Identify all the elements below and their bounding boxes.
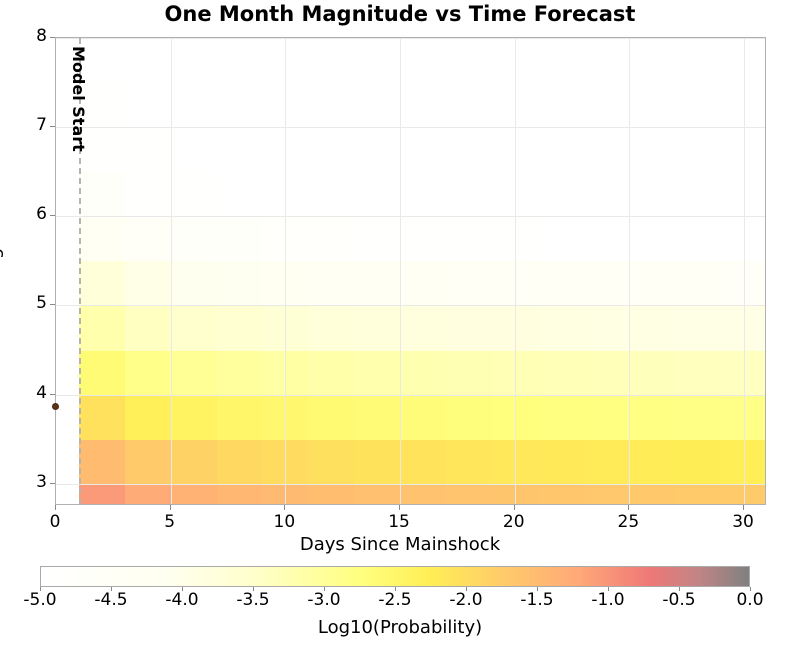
heatmap-cell	[400, 261, 446, 306]
y-axis-tick-mark	[50, 126, 55, 127]
y-axis-tick-mark	[50, 483, 55, 484]
heatmap-cell	[629, 305, 675, 350]
heatmap-cell	[492, 127, 538, 172]
heatmap-cell	[308, 83, 354, 128]
heatmap-cell	[217, 439, 263, 484]
heatmap-cell	[262, 216, 308, 261]
heatmap-cell	[584, 395, 630, 440]
model-start-label: Model Start	[69, 46, 88, 152]
heatmap-cell	[446, 261, 492, 306]
heatmap-cell	[217, 172, 263, 217]
heatmap-cell	[262, 261, 308, 306]
heatmap-cell	[217, 83, 263, 128]
heatmap-cell	[262, 350, 308, 395]
heatmap-cell	[446, 127, 492, 172]
heatmap-cell	[446, 216, 492, 261]
heatmap-cell	[354, 484, 400, 505]
colorbar-tick-label: -1.0	[573, 592, 643, 609]
heatmap-cell	[446, 439, 492, 484]
colorbar-tick-label: -1.5	[502, 592, 572, 609]
heatmap-cell	[538, 395, 584, 440]
heatmap-cell	[721, 305, 766, 350]
heatmap-cell	[400, 350, 446, 395]
heatmap-cell	[354, 350, 400, 395]
heatmap-cell	[79, 395, 125, 440]
heatmap-cell	[79, 350, 125, 395]
y-axis-tick-label: 4	[7, 385, 47, 402]
colorbar-tick-label: -3.5	[218, 592, 288, 609]
heatmap-cell	[262, 439, 308, 484]
heatmap-cell	[400, 305, 446, 350]
heatmap-cell	[538, 439, 584, 484]
heatmap-cell	[125, 261, 171, 306]
x-axis-tick-label: 5	[140, 514, 200, 531]
heatmap-cell	[492, 395, 538, 440]
x-axis-tick-label: 25	[598, 514, 658, 531]
y-axis-tick-label: 5	[7, 295, 47, 312]
heatmap-cell	[721, 172, 766, 217]
heatmap-cell	[675, 395, 721, 440]
heatmap-cell	[79, 305, 125, 350]
heatmap-cell	[629, 439, 675, 484]
colorbar-tick-label: -2.0	[431, 592, 501, 609]
heatmap-cell	[492, 350, 538, 395]
colorbar-tick-label: -3.0	[289, 592, 359, 609]
heatmap-cell	[584, 261, 630, 306]
heatmap-cell	[354, 38, 400, 83]
heatmap-cell	[446, 305, 492, 350]
y-axis-tick-mark	[50, 394, 55, 395]
heatmap-cell	[721, 83, 766, 128]
forecast-heatmap-figure: One Month Magnitude vs Time Forecast Mod…	[0, 0, 800, 650]
heatmap-cell	[79, 216, 125, 261]
x-axis-label: Days Since Mainshock	[0, 534, 800, 555]
heatmap-cell	[492, 38, 538, 83]
heatmap-cell	[721, 127, 766, 172]
plot-area: Model Start	[55, 37, 766, 505]
x-axis-tick-mark	[399, 505, 400, 510]
heatmap-cell	[721, 216, 766, 261]
heatmap-cell	[262, 127, 308, 172]
heatmap-cell	[492, 261, 538, 306]
heatmap-cell	[262, 395, 308, 440]
colorbar-tick-label: -4.5	[76, 592, 146, 609]
heatmap-cell	[584, 127, 630, 172]
heatmap-cell	[721, 261, 766, 306]
y-axis-tick-label: 7	[7, 117, 47, 134]
heatmap-cell	[262, 38, 308, 83]
x-axis-tick-mark	[170, 505, 171, 510]
heatmap-cell	[721, 395, 766, 440]
heatmap-cell	[584, 172, 630, 217]
heatmap-cell	[171, 216, 217, 261]
heatmap-cell	[308, 38, 354, 83]
heatmap-cell	[354, 216, 400, 261]
x-axis-tick-label: 10	[254, 514, 314, 531]
heatmap-cell	[354, 127, 400, 172]
heatmap-cell	[354, 83, 400, 128]
heatmap-cell	[446, 484, 492, 505]
heatmap-cell	[262, 484, 308, 505]
heatmap-cell	[584, 216, 630, 261]
heatmap-cell	[400, 172, 446, 217]
heatmap-cell	[125, 439, 171, 484]
heatmap-cell	[308, 350, 354, 395]
heatmap-cell	[354, 439, 400, 484]
heatmap-cell	[400, 38, 446, 83]
heatmap-cell	[446, 172, 492, 217]
x-axis-tick-label: 30	[713, 514, 773, 531]
heatmap-cell	[125, 38, 171, 83]
heatmap-cell	[125, 216, 171, 261]
heatmap-cell	[79, 172, 125, 217]
heatmap-cell	[125, 127, 171, 172]
heatmap-cell	[400, 439, 446, 484]
heatmap-cell	[125, 172, 171, 217]
colorbar-title: Log10(Probability)	[0, 617, 800, 638]
heatmap-cell	[584, 350, 630, 395]
x-axis-tick-mark	[628, 505, 629, 510]
heatmap-cell	[400, 395, 446, 440]
heatmap-cell	[125, 484, 171, 505]
heatmap-cell	[171, 305, 217, 350]
heatmap-cell	[629, 261, 675, 306]
heatmap-cell	[629, 127, 675, 172]
heatmap-cell	[217, 38, 263, 83]
heatmap-cell	[721, 38, 766, 83]
heatmap-cell	[125, 83, 171, 128]
heatmap-cell	[538, 484, 584, 505]
heatmap-cell	[308, 395, 354, 440]
heatmap-cell	[584, 439, 630, 484]
heatmap-cell	[171, 38, 217, 83]
x-axis-tick-label: 20	[484, 514, 544, 531]
heatmap-cell	[584, 484, 630, 505]
heatmap-cell	[492, 439, 538, 484]
heatmap-cell	[171, 83, 217, 128]
heatmap-cell	[446, 83, 492, 128]
heatmap-cell	[675, 83, 721, 128]
heatmap-cell	[125, 305, 171, 350]
heatmap-cell	[629, 395, 675, 440]
heatmap-cell	[538, 261, 584, 306]
colorbar-tick-label: -5.0	[5, 592, 75, 609]
heatmap-cell	[400, 484, 446, 505]
heatmap-cell	[262, 83, 308, 128]
colorbar	[40, 566, 750, 587]
heatmap-cell	[675, 261, 721, 306]
heatmap-cell	[354, 305, 400, 350]
heatmap-cell	[629, 38, 675, 83]
heatmap-cell	[492, 83, 538, 128]
heatmap-cell	[171, 484, 217, 505]
x-axis-tick-label: 15	[369, 514, 429, 531]
colorbar-tick-label: 0.0	[715, 592, 785, 609]
heatmap-cell	[538, 350, 584, 395]
heatmap-cell	[308, 216, 354, 261]
heatmap-cell	[538, 216, 584, 261]
heatmap-cell	[584, 305, 630, 350]
heatmap-cell	[171, 439, 217, 484]
heatmap-cell	[217, 305, 263, 350]
heatmap-cell	[308, 261, 354, 306]
heatmap-cell	[446, 350, 492, 395]
heatmap-cell	[629, 350, 675, 395]
mainshock-dot	[52, 403, 59, 410]
heatmap-cell	[675, 216, 721, 261]
heatmap-cell	[354, 172, 400, 217]
heatmap-cell	[538, 127, 584, 172]
heatmap-cell	[354, 395, 400, 440]
x-axis-tick-mark	[284, 505, 285, 510]
heatmap-cells	[56, 38, 765, 504]
heatmap-cell	[354, 261, 400, 306]
heatmap-cell	[262, 305, 308, 350]
heatmap-cell	[125, 350, 171, 395]
y-axis-tick-label: 3	[7, 474, 47, 491]
x-axis-tick-mark	[55, 505, 56, 510]
heatmap-cell	[217, 395, 263, 440]
heatmap-cell	[629, 484, 675, 505]
heatmap-cell	[675, 484, 721, 505]
heatmap-cell	[675, 350, 721, 395]
heatmap-cell	[492, 172, 538, 217]
heatmap-cell	[675, 172, 721, 217]
page-title: One Month Magnitude vs Time Forecast	[0, 2, 800, 26]
y-axis-tick-mark	[50, 304, 55, 305]
x-axis-tick-mark	[743, 505, 744, 510]
heatmap-cell	[629, 172, 675, 217]
y-axis-label: Magnitude	[0, 190, 5, 285]
heatmap-cell	[171, 261, 217, 306]
colorbar-tick-label: -4.0	[147, 592, 217, 609]
y-axis-tick-label: 8	[7, 28, 47, 45]
heatmap-cell	[400, 83, 446, 128]
heatmap-cell	[217, 127, 263, 172]
heatmap-cell	[584, 83, 630, 128]
heatmap-cell	[79, 484, 125, 505]
x-axis-tick-label: 0	[25, 514, 85, 531]
heatmap-cell	[217, 261, 263, 306]
colorbar-tick-label: -2.5	[360, 592, 430, 609]
heatmap-cell	[262, 172, 308, 217]
heatmap-cell	[492, 216, 538, 261]
heatmap-cell	[538, 38, 584, 83]
heatmap-cell	[308, 484, 354, 505]
heatmap-cell	[675, 127, 721, 172]
heatmap-cell	[400, 127, 446, 172]
heatmap-cell	[171, 395, 217, 440]
heatmap-cell	[538, 83, 584, 128]
heatmap-cell	[538, 172, 584, 217]
heatmap-cell	[125, 395, 171, 440]
heatmap-cell	[171, 172, 217, 217]
y-axis-tick-mark	[50, 215, 55, 216]
heatmap-cell	[446, 38, 492, 83]
colorbar-tick-label: -0.5	[644, 592, 714, 609]
heatmap-cell	[675, 305, 721, 350]
heatmap-cell	[217, 216, 263, 261]
heatmap-cell	[721, 350, 766, 395]
heatmap-cell	[629, 216, 675, 261]
heatmap-cell	[400, 216, 446, 261]
heatmap-cell	[538, 305, 584, 350]
x-axis-tick-mark	[514, 505, 515, 510]
y-axis-tick-mark	[50, 37, 55, 38]
heatmap-cell	[675, 439, 721, 484]
heatmap-cell	[217, 484, 263, 505]
heatmap-cell	[492, 484, 538, 505]
heatmap-cell	[79, 439, 125, 484]
heatmap-cell	[721, 439, 766, 484]
heatmap-cell	[446, 395, 492, 440]
heatmap-cell	[308, 172, 354, 217]
heatmap-cell	[675, 38, 721, 83]
heatmap-cell	[171, 127, 217, 172]
heatmap-cell	[308, 439, 354, 484]
heatmap-cell	[308, 127, 354, 172]
heatmap-cell	[584, 38, 630, 83]
heatmap-cell	[217, 350, 263, 395]
heatmap-cell	[79, 261, 125, 306]
heatmap-cell	[492, 305, 538, 350]
heatmap-cell	[171, 350, 217, 395]
y-axis-tick-label: 6	[7, 206, 47, 223]
heatmap-cell	[721, 484, 766, 505]
heatmap-cell	[629, 83, 675, 128]
heatmap-cell	[308, 305, 354, 350]
